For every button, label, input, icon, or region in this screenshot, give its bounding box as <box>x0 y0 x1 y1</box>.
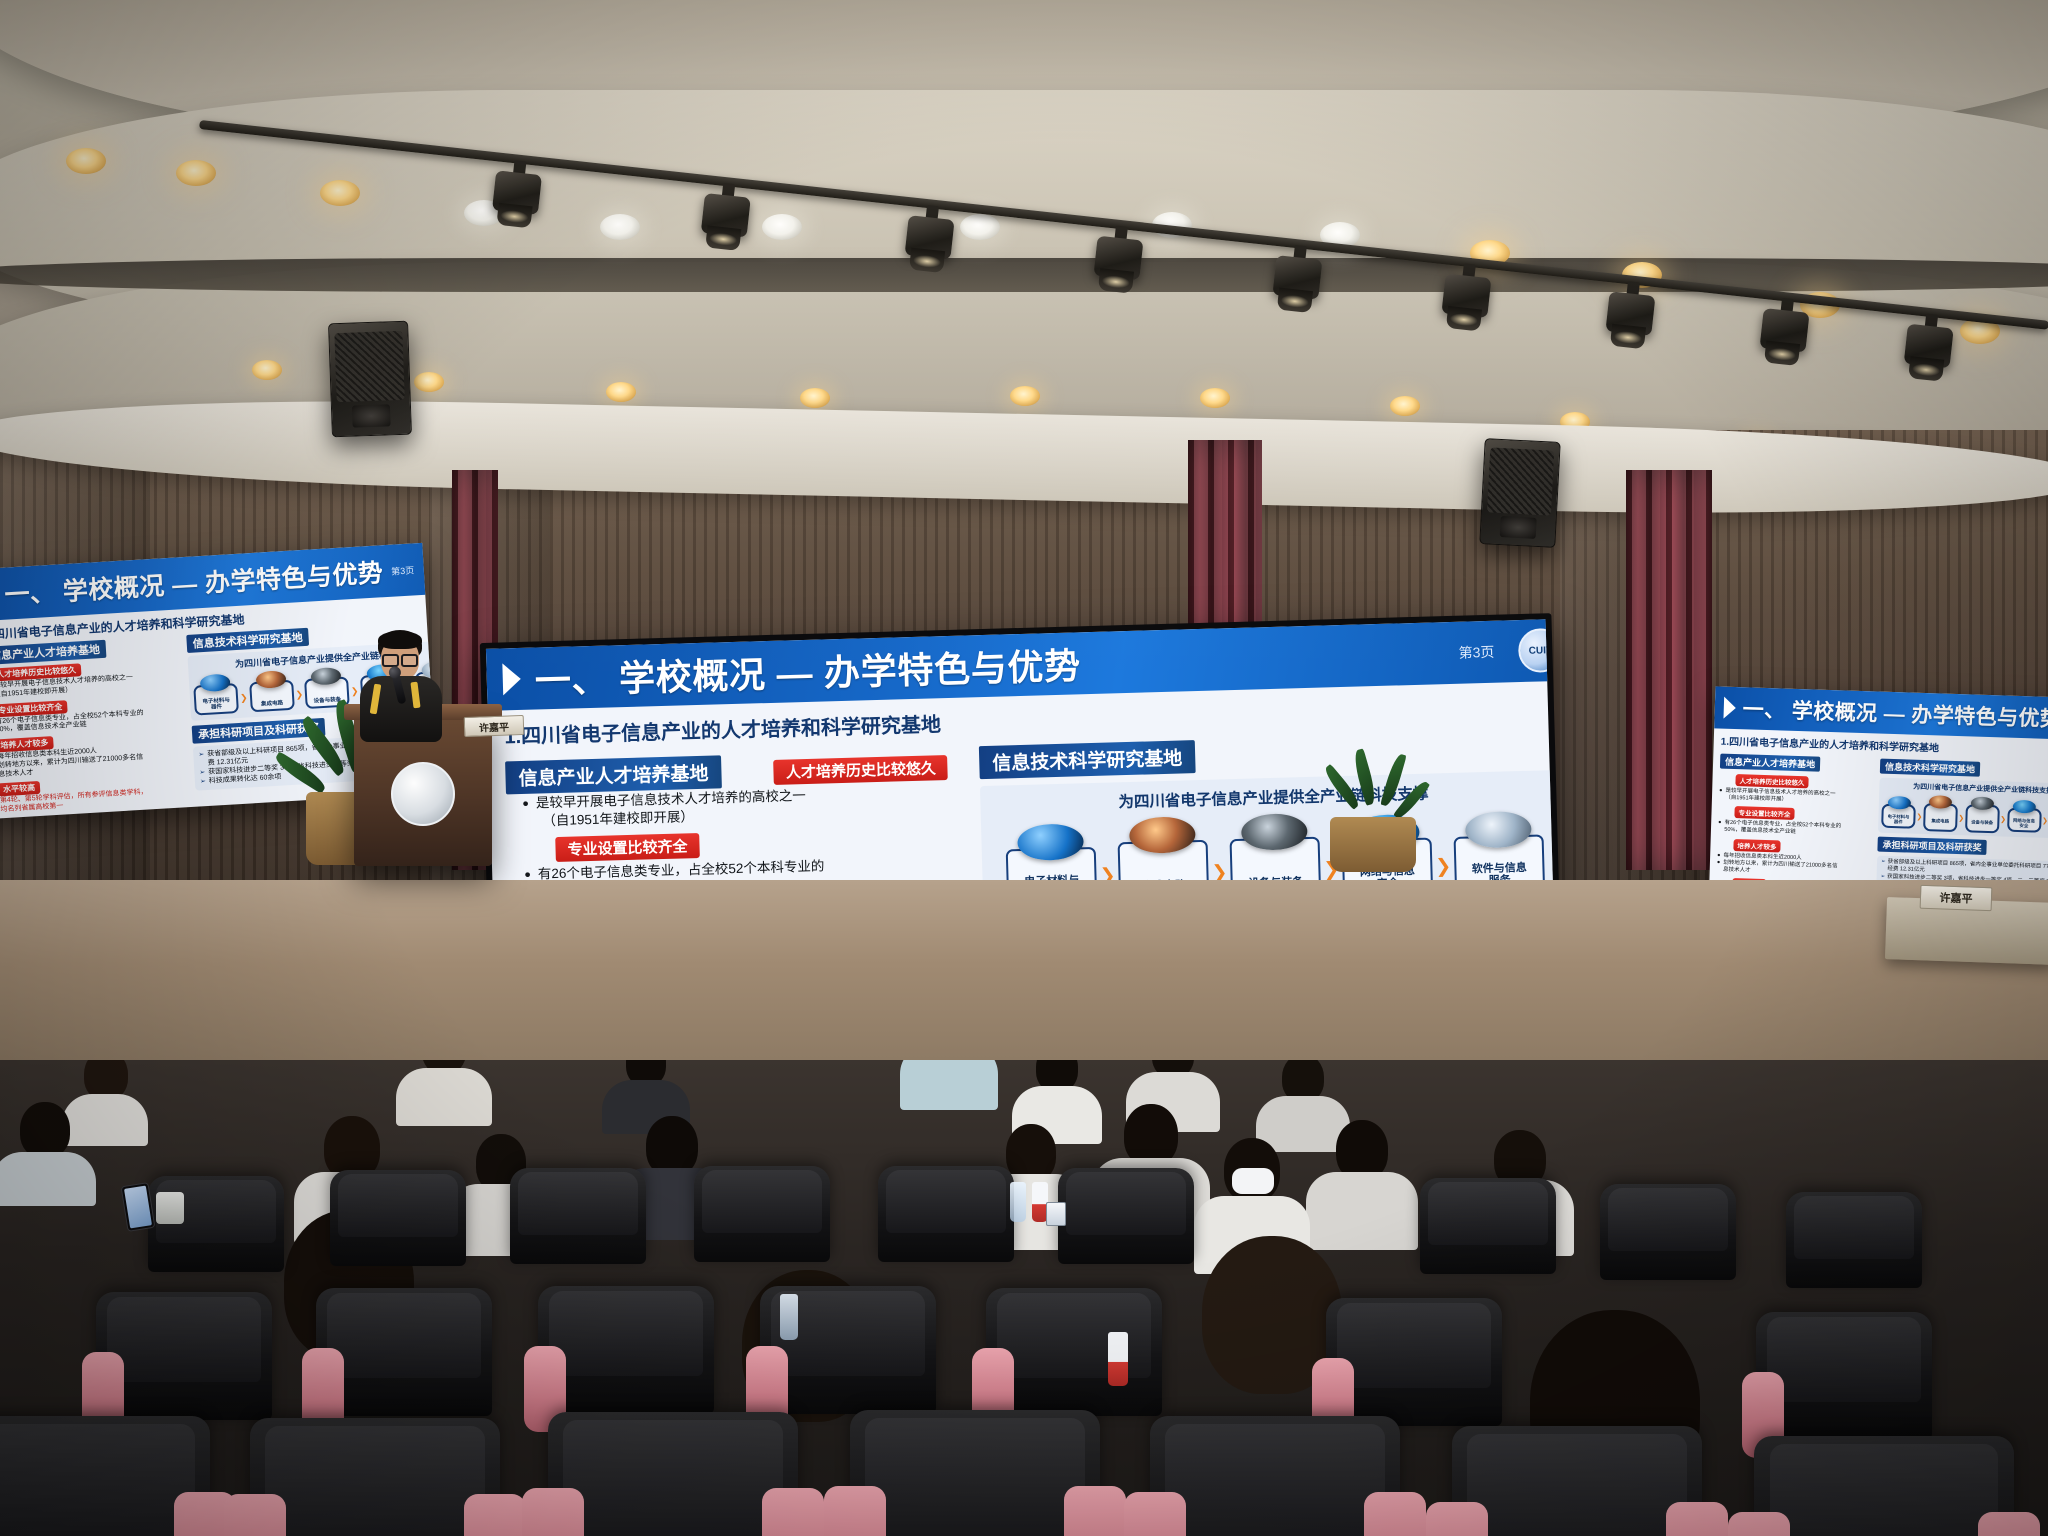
chain-arrow-icon: ❯ <box>240 692 248 703</box>
chain-arrow-icon: ❯ <box>1958 814 1964 822</box>
stage-spotlight <box>1757 296 1811 375</box>
red-tag-2: 专业设置比较齐全 <box>555 833 700 862</box>
speaker-nameplate: 许嘉平 <box>464 715 525 737</box>
arrow-marker-icon: ➢ <box>198 750 205 769</box>
arrow-marker-icon: ➢ <box>200 777 206 786</box>
bullet-text: 有26个电子信息类专业，占全校52个本科专业的 <box>538 859 825 882</box>
red-tag: 培养人才较多 <box>1733 839 1780 852</box>
left-panel-heading: 信息产业人才培养基地 <box>1720 754 1820 772</box>
pa-speaker-right <box>1479 438 1560 548</box>
audience-seating-area <box>0 1060 2048 1536</box>
chain-node: 电子材料与器件 <box>193 683 239 716</box>
stage-spotlight <box>490 158 544 237</box>
audience-member <box>0 1102 96 1194</box>
stage-spotlight <box>1439 262 1493 341</box>
stage-spotlight <box>698 181 752 260</box>
seat-back-front <box>1754 1436 2014 1536</box>
water-bottle <box>780 1294 798 1340</box>
right-panel-heading: 信息技术科学研究基地 <box>1880 759 1980 777</box>
face-mask-icon <box>1232 1168 1274 1194</box>
slide-title: 一、 学校概况 — 办学特色与优势 <box>1742 693 2048 733</box>
seat-back <box>1786 1192 1922 1288</box>
seat-back-front <box>250 1418 500 1536</box>
hair-front <box>378 631 422 649</box>
header-arrow-icon <box>1723 697 1736 719</box>
stage-spotlight <box>1901 312 1955 391</box>
arrow-marker-icon: ➢ <box>199 768 205 777</box>
chain-tagline: 为四川省电子信息产业提供全产业链科技支撑 <box>990 778 1556 816</box>
left-panel-heading: 信息产业人才培养基地 <box>0 640 106 665</box>
chain-arrow-icon: ❯ <box>1916 813 1922 821</box>
header-arrow-icon <box>502 663 521 695</box>
audience-member <box>1310 1120 1414 1244</box>
attendee-badge <box>1046 1202 1066 1226</box>
audience-member <box>906 1060 992 1106</box>
red-tag: 专业设置比较齐全 <box>1734 806 1794 820</box>
chain-node: 集成电路 <box>249 680 295 713</box>
chain-tagline: 为四川省电子信息产业提供全产业链科技支撑 <box>1882 781 2048 797</box>
seat-back-front <box>1150 1416 1400 1536</box>
water-bottle <box>1010 1182 1026 1222</box>
ceiling-downlight <box>252 360 282 380</box>
thermos-cup <box>156 1192 184 1224</box>
seat-back <box>1326 1298 1502 1426</box>
slide-title: 一、 学校概况 — 办学特色与优势 <box>534 637 1081 704</box>
seat-back <box>148 1176 284 1272</box>
plant-pot <box>1330 817 1416 872</box>
seat-back <box>878 1166 1014 1262</box>
seat-back <box>694 1166 830 1262</box>
bullet-text: 均名列省属高校第一 <box>0 803 63 814</box>
seat-back-front <box>1452 1426 1702 1536</box>
right-panel-heading: 信息技术科学研究基地 <box>979 740 1196 779</box>
chain-node: 集成电路 <box>1923 803 1958 832</box>
arrow-marker-icon: ➢ <box>1881 859 1886 874</box>
seat-back-front <box>0 1416 210 1536</box>
stage-plant-right <box>1330 742 1416 872</box>
chain-arrow-icon: ❯ <box>1435 855 1452 878</box>
seat-back-front <box>850 1410 1100 1536</box>
seat-back <box>1600 1184 1736 1280</box>
awards-heading: 承担科研项目及科研获奖 <box>1877 837 1986 855</box>
stage-spotlight <box>1091 224 1145 303</box>
head-table-nameplate: 许嘉平 <box>1920 885 1993 911</box>
red-tag-1: 人才培养历史比较悠久 <box>774 755 949 785</box>
conference-hall-photo: 一、 学校概况 — 办学特色与优势 第3页 CUIT 1.四川省电子信息产业的人… <box>0 0 2048 1536</box>
left-panel-heading: 信息产业人才培养基地 <box>505 755 722 794</box>
ceiling-downlight <box>66 148 106 174</box>
seat-back <box>510 1168 646 1264</box>
seat-back <box>316 1288 492 1416</box>
presenter-speaker <box>358 630 448 740</box>
chain-node: 设备与装备 <box>1965 804 2000 833</box>
stage-spotlight <box>902 203 956 282</box>
stage-spotlight <box>1603 279 1657 358</box>
seat-back <box>96 1292 272 1420</box>
seat-back <box>1756 1312 1932 1440</box>
stage-spotlight <box>1270 243 1324 322</box>
chain-arrow-icon: ❯ <box>2042 817 2048 825</box>
seat-back <box>538 1286 714 1414</box>
university-emblem-icon <box>391 762 455 826</box>
chain-arrow-icon: ❯ <box>295 689 303 700</box>
seat-back <box>1058 1168 1194 1264</box>
chain-node: 网络与信息安全 <box>2007 808 2042 833</box>
bullet-text: （自1951年建校即开展） <box>536 808 694 831</box>
slide-page-label: 第3页 <box>391 563 415 577</box>
eyeglasses-icon <box>382 654 418 667</box>
chain-node: 电子材料与器件 <box>1881 804 1916 829</box>
seat-back <box>330 1170 466 1266</box>
chain-arrow-icon: ❯ <box>2000 815 2006 823</box>
pa-speaker-left <box>328 321 412 438</box>
seat-back <box>1420 1178 1556 1274</box>
audience-member <box>400 1060 488 1120</box>
slide-page-label: 第3页 <box>1458 642 1494 663</box>
seat-back <box>986 1288 1162 1416</box>
stage-curtain-far-right <box>1626 470 1712 870</box>
bullet-text: 息技术人才 <box>0 769 34 778</box>
water-bottle <box>1108 1332 1128 1386</box>
seat-back-front <box>548 1412 798 1536</box>
red-tag: 人才培养历史比较悠久 <box>1735 774 1808 788</box>
